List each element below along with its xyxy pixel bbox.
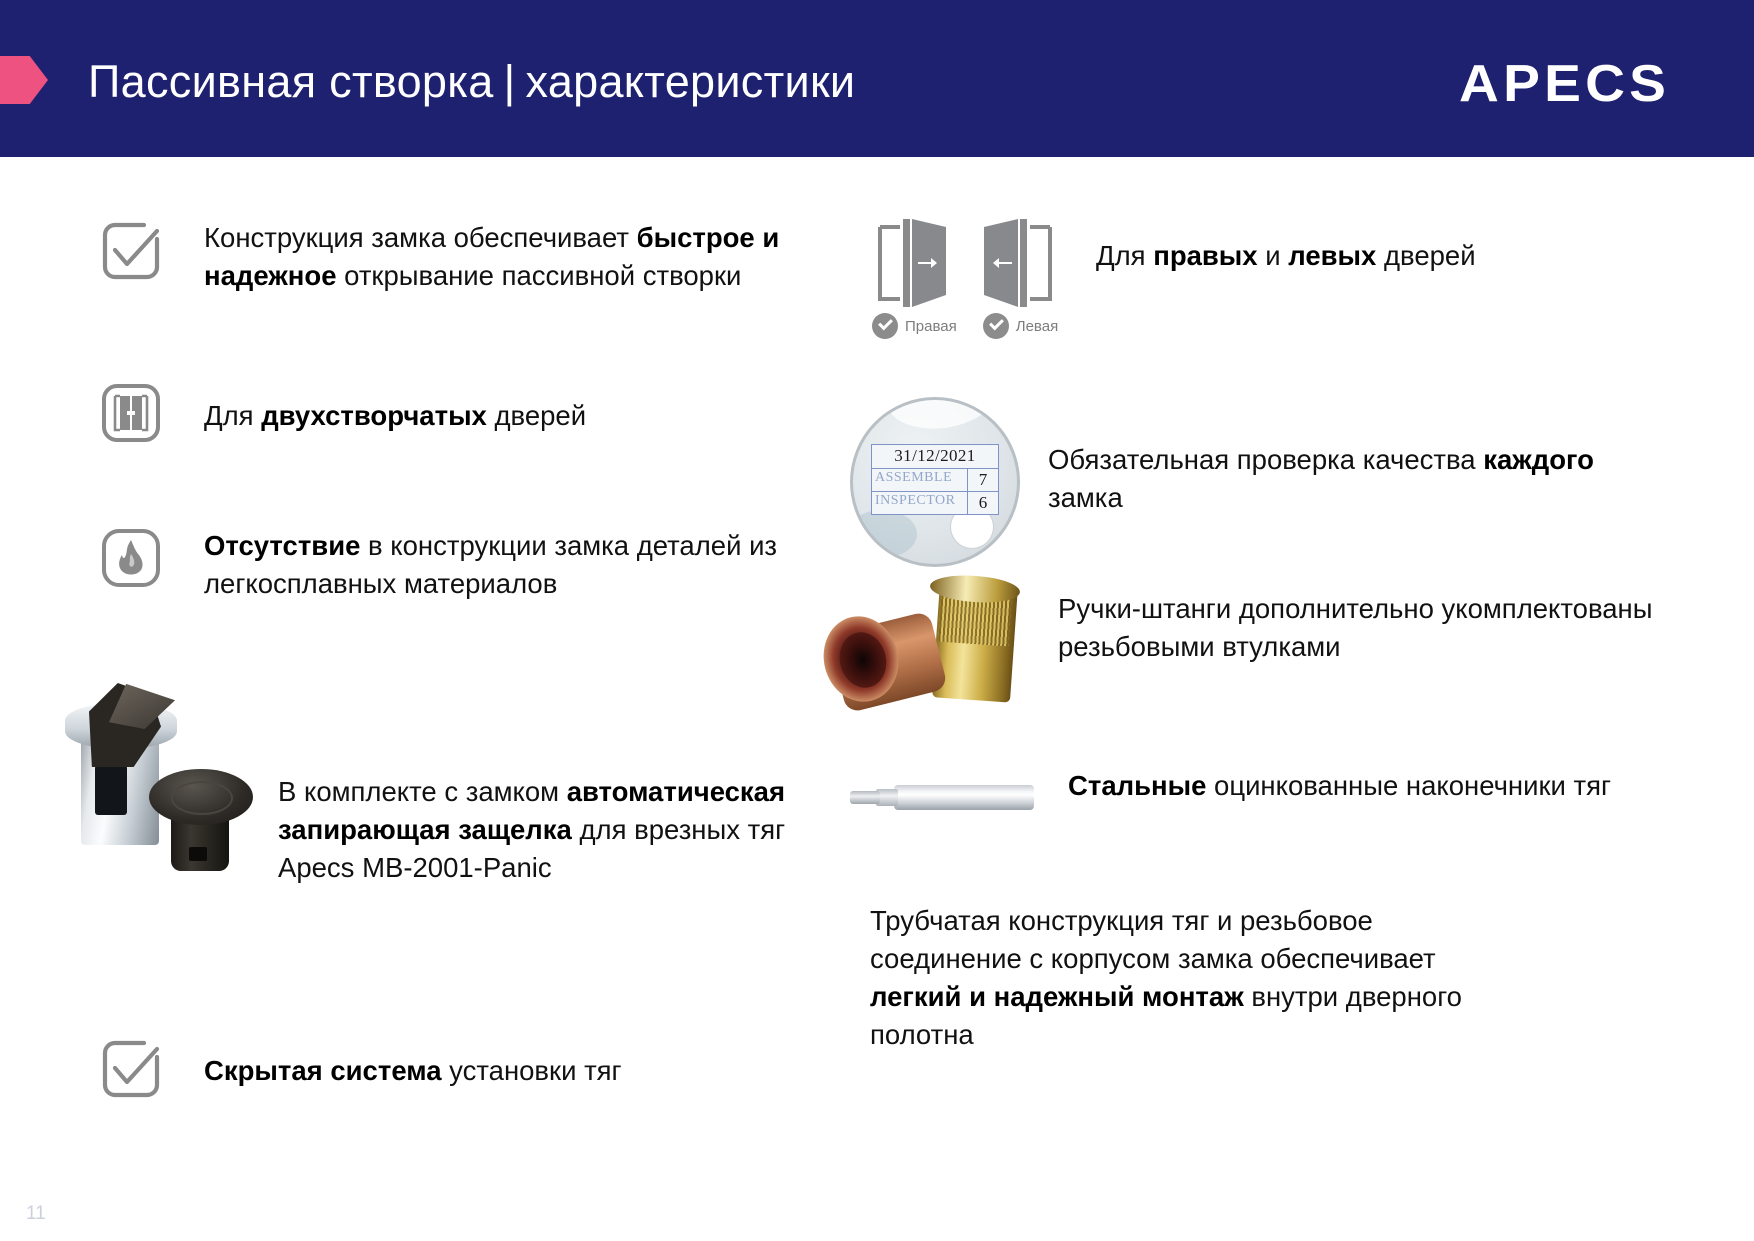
text-run: Для <box>204 400 261 431</box>
feature-item: Для двухстворчатых дверей <box>100 382 820 449</box>
flame-icon <box>100 527 162 594</box>
qc-row: ASSEMBLE 7 <box>872 469 998 492</box>
text-run-bold: левых <box>1288 240 1376 271</box>
feature-text: Для двухстворчатых дверей <box>204 397 804 435</box>
feature-item: Скрытая система установки тяг <box>100 1037 820 1104</box>
door-hand-badges: Правая Левая <box>872 313 1058 339</box>
feature-text: Отсутствие в конструкции замка деталей и… <box>204 527 804 603</box>
chevron-accent-icon <box>0 56 48 104</box>
double-door-icon <box>100 382 162 449</box>
page-title: Пассивная створка|характеристики <box>88 52 855 112</box>
latch-cap-ring <box>171 781 233 815</box>
text-run-bold: каждого <box>1483 444 1594 475</box>
apecs-logo: APECS <box>1459 54 1670 114</box>
qc-sticker: 31/12/2021 ASSEMBLE 7 INSPECTOR 6 <box>850 397 1020 567</box>
feature-item: Отсутствие в конструкции замка деталей и… <box>100 527 820 603</box>
text-run: дверей <box>487 400 586 431</box>
page-number: 11 <box>26 1203 46 1225</box>
text-run: В комплекте с замком <box>278 776 567 807</box>
checkbox-check-icon <box>100 219 162 286</box>
text-run-bold: Стальные <box>1068 770 1206 801</box>
text-run: Конструкция замка обеспечивает <box>204 222 637 253</box>
text-run: Обязательная проверка качества <box>1048 444 1483 475</box>
text-run: открывание пассивной створки <box>337 260 742 291</box>
slide-header: Пассивная створка|характеристики APECS <box>0 0 1754 157</box>
feature-text: Для правых и левых дверей <box>1096 237 1696 275</box>
check-circle-icon <box>872 313 898 339</box>
feature-text: Скрытая система установки тяг <box>204 1052 804 1090</box>
feature-text: В комплекте с замком автоматическая запи… <box>278 773 798 887</box>
qc-date: 31/12/2021 <box>872 445 998 469</box>
right-column: Правая Левая Для правых и левых дверей <box>860 157 1754 1241</box>
badge-left-hand: Левая <box>983 313 1058 339</box>
feature-text: Ручки-штанги дополнительно укомплектован… <box>1058 590 1658 666</box>
feature-item: Трубчатая конструкция тяг и резьбовое со… <box>870 902 1730 1054</box>
latch-window <box>95 765 127 815</box>
text-run: и <box>1258 240 1289 271</box>
bushing-copper <box>826 610 946 708</box>
page-title-main: Пассивная створка <box>88 56 494 107</box>
latch-photo <box>45 677 260 877</box>
text-run: Для <box>1096 240 1153 271</box>
text-run: Трубчатая конструкция тяг и резьбовое со… <box>870 905 1436 974</box>
qc-row-name: INSPECTOR <box>872 492 968 514</box>
text-run: Ручки-штанги дополнительно укомплектован… <box>1058 593 1653 662</box>
qc-row: INSPECTOR 6 <box>872 492 998 514</box>
page-title-sub: характеристики <box>526 56 856 107</box>
left-column: Конструкция замка обеспечивает быстрое и… <box>0 157 860 1241</box>
feature-item: Стальные оцинкованные наконечники тяг <box>840 767 1740 821</box>
feature-text: Трубчатая конструкция тяг и резьбовое со… <box>870 902 1530 1054</box>
page-title-separator: | <box>494 56 526 107</box>
text-run-bold: Скрытая система <box>204 1055 442 1086</box>
qc-shadow <box>850 510 917 558</box>
text-run: замка <box>1048 482 1123 513</box>
latch-cap-slot <box>189 847 207 861</box>
text-run: дверей <box>1376 240 1475 271</box>
check-circle-icon <box>983 313 1009 339</box>
text-run-bold: двухстворчатых <box>261 400 487 431</box>
checkbox-check-icon <box>100 1037 162 1104</box>
slide-body: Конструкция замка обеспечивает быстрое и… <box>0 157 1754 1241</box>
text-run-bold: легкий и надежный монтаж <box>870 981 1244 1012</box>
rod-tip <box>850 791 880 804</box>
badge-right-hand: Правая <box>872 313 957 339</box>
badge-label: Левая <box>1016 318 1058 335</box>
qc-gloss <box>883 397 1001 435</box>
qc-label: 31/12/2021 ASSEMBLE 7 INSPECTOR 6 <box>871 444 999 515</box>
feature-text: Обязательная проверка качества каждого з… <box>1048 441 1608 517</box>
feature-text: Стальные оцинкованные наконечники тяг <box>1068 767 1628 805</box>
feature-text: Конструкция замка обеспечивает быстрое и… <box>204 219 804 295</box>
feature-item: Конструкция замка обеспечивает быстрое и… <box>100 219 820 295</box>
feature-item: Правая Левая Для правых и левых дверей <box>870 215 1730 345</box>
qc-row-name: ASSEMBLE <box>872 469 968 491</box>
door-pair-icon: Правая Левая <box>870 215 1060 345</box>
qc-row-value: 7 <box>968 469 998 491</box>
text-run: оцинкованные наконечники тяг <box>1206 770 1611 801</box>
qc-sticker-photo: 31/12/2021 ASSEMBLE 7 INSPECTOR 6 <box>850 397 1020 567</box>
feature-item: В комплекте с замком автоматическая запи… <box>45 677 835 887</box>
steel-rod-tip-photo <box>840 777 1040 821</box>
rod-body <box>894 785 1034 810</box>
text-run-bold: Отсутствие <box>204 530 360 561</box>
text-run: установки тяг <box>442 1055 622 1086</box>
latch-cap <box>149 769 253 873</box>
feature-item: Ручки-штанги дополнительно укомплектован… <box>820 582 1740 712</box>
threaded-bushing-photo <box>820 582 1030 712</box>
qc-row-value: 6 <box>968 492 998 514</box>
text-run-bold: правых <box>1153 240 1257 271</box>
badge-label: Правая <box>905 318 957 335</box>
feature-item: 31/12/2021 ASSEMBLE 7 INSPECTOR 6 Обязат… <box>850 397 1730 567</box>
